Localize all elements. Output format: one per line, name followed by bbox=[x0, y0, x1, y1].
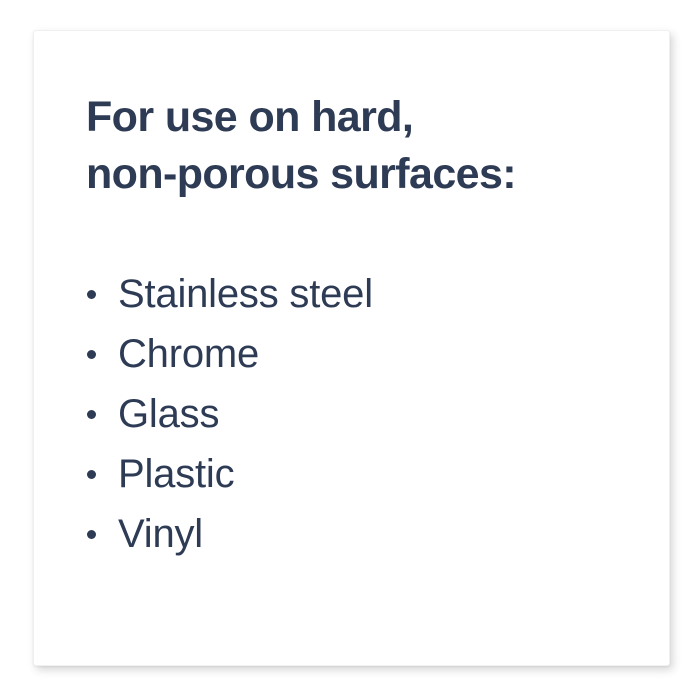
surface-info-card: For use on hard, non-porous surfaces: St… bbox=[33, 30, 670, 666]
list-item-label: Glass bbox=[118, 384, 219, 444]
bullet-dot-icon bbox=[87, 410, 96, 419]
list-item: Glass bbox=[86, 384, 649, 444]
list-item-label: Vinyl bbox=[118, 504, 203, 564]
bullet-dot-icon bbox=[87, 350, 96, 359]
list-item: Chrome bbox=[86, 324, 649, 384]
list-item-label: Plastic bbox=[118, 444, 234, 504]
page-title-line-2: non-porous surfaces: bbox=[86, 146, 649, 203]
list-item: Vinyl bbox=[86, 504, 649, 564]
page-title-line-1: For use on hard, bbox=[86, 89, 649, 146]
list-item-label: Chrome bbox=[118, 324, 259, 384]
bullet-dot-icon bbox=[87, 470, 96, 479]
bullet-dot-icon bbox=[87, 530, 96, 539]
bullet-dot-icon bbox=[87, 290, 96, 299]
list-item: Plastic bbox=[86, 444, 649, 504]
page-canvas: For use on hard, non-porous surfaces: St… bbox=[0, 0, 700, 700]
list-item: Stainless steel bbox=[86, 264, 649, 324]
card-content: For use on hard, non-porous surfaces: St… bbox=[86, 89, 649, 564]
list-item-label: Stainless steel bbox=[118, 264, 373, 324]
surface-list: Stainless steel Chrome Glass Plastic Vin bbox=[86, 264, 649, 564]
page-title: For use on hard, non-porous surfaces: bbox=[86, 89, 649, 203]
